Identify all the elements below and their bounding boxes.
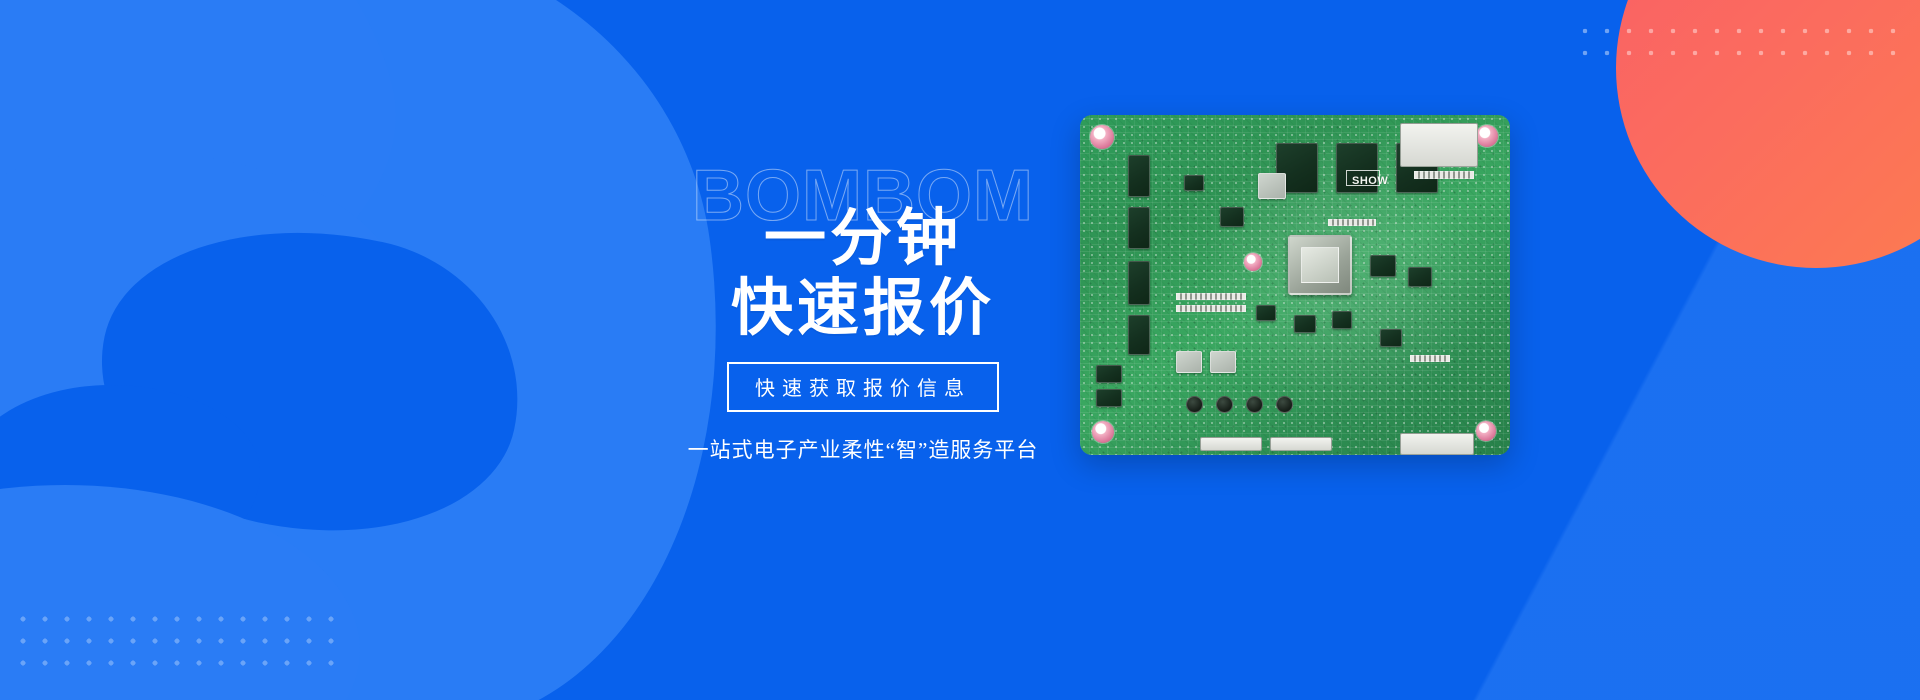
dot-grid-bottom-left xyxy=(12,608,342,678)
tagline: 一站式电子产业柔性“智”造服务平台 xyxy=(628,434,1098,464)
pcb-board-image: SHOW xyxy=(1080,115,1510,455)
capacitor xyxy=(1246,396,1263,413)
ic-chip xyxy=(1128,261,1150,305)
headline-line-1: 一分钟 xyxy=(764,204,962,273)
page-title: 一分钟 快速报价 xyxy=(628,208,1098,340)
pin-header xyxy=(1176,293,1246,300)
small-ic xyxy=(1332,311,1352,329)
dot-grid-top-right xyxy=(1574,20,1904,56)
small-ic xyxy=(1256,305,1276,321)
ic-chip xyxy=(1128,315,1150,355)
capacitor xyxy=(1276,396,1293,413)
pin-header xyxy=(1414,171,1474,179)
small-ic xyxy=(1294,315,1316,333)
small-ic xyxy=(1220,207,1244,227)
io-connector xyxy=(1200,437,1262,451)
mount-pad-icon xyxy=(1090,125,1114,149)
io-connector xyxy=(1400,433,1474,455)
mount-pad-icon xyxy=(1476,125,1498,147)
pin-header xyxy=(1410,355,1450,362)
cpu-chip xyxy=(1288,235,1352,295)
capacitor xyxy=(1186,396,1203,413)
sim-card-connector xyxy=(1400,123,1478,167)
mount-pad-icon xyxy=(1092,421,1114,443)
pin-header xyxy=(1176,305,1246,312)
ic-chip xyxy=(1096,389,1122,407)
small-ic xyxy=(1380,329,1402,347)
cta-badge[interactable]: 快速获取报价信息 xyxy=(727,362,999,412)
silkscreen-box xyxy=(1346,170,1380,186)
small-ic xyxy=(1370,255,1396,277)
ic-chip xyxy=(1128,207,1150,249)
mount-pad-icon xyxy=(1244,253,1262,271)
small-ic xyxy=(1184,175,1204,191)
inductor xyxy=(1176,351,1202,373)
mount-pad-icon xyxy=(1476,421,1496,441)
promo-banner: SHOW BOMBOM 一分钟 快速报价 快速获取报价信息 一站式电子产业柔性“… xyxy=(0,0,1920,700)
headline-line-2: 快速报价 xyxy=(628,278,1098,340)
small-ic xyxy=(1408,267,1432,287)
cpu-die xyxy=(1301,247,1339,283)
inductor xyxy=(1258,173,1286,199)
pin-header xyxy=(1328,219,1376,226)
ic-chip xyxy=(1128,155,1150,197)
ic-chip xyxy=(1096,365,1122,383)
capacitor xyxy=(1216,396,1233,413)
banner-text-block: BOMBOM 一分钟 快速报价 快速获取报价信息 一站式电子产业柔性“智”造服务… xyxy=(628,160,1098,464)
io-connector xyxy=(1270,437,1332,451)
inductor xyxy=(1210,351,1236,373)
